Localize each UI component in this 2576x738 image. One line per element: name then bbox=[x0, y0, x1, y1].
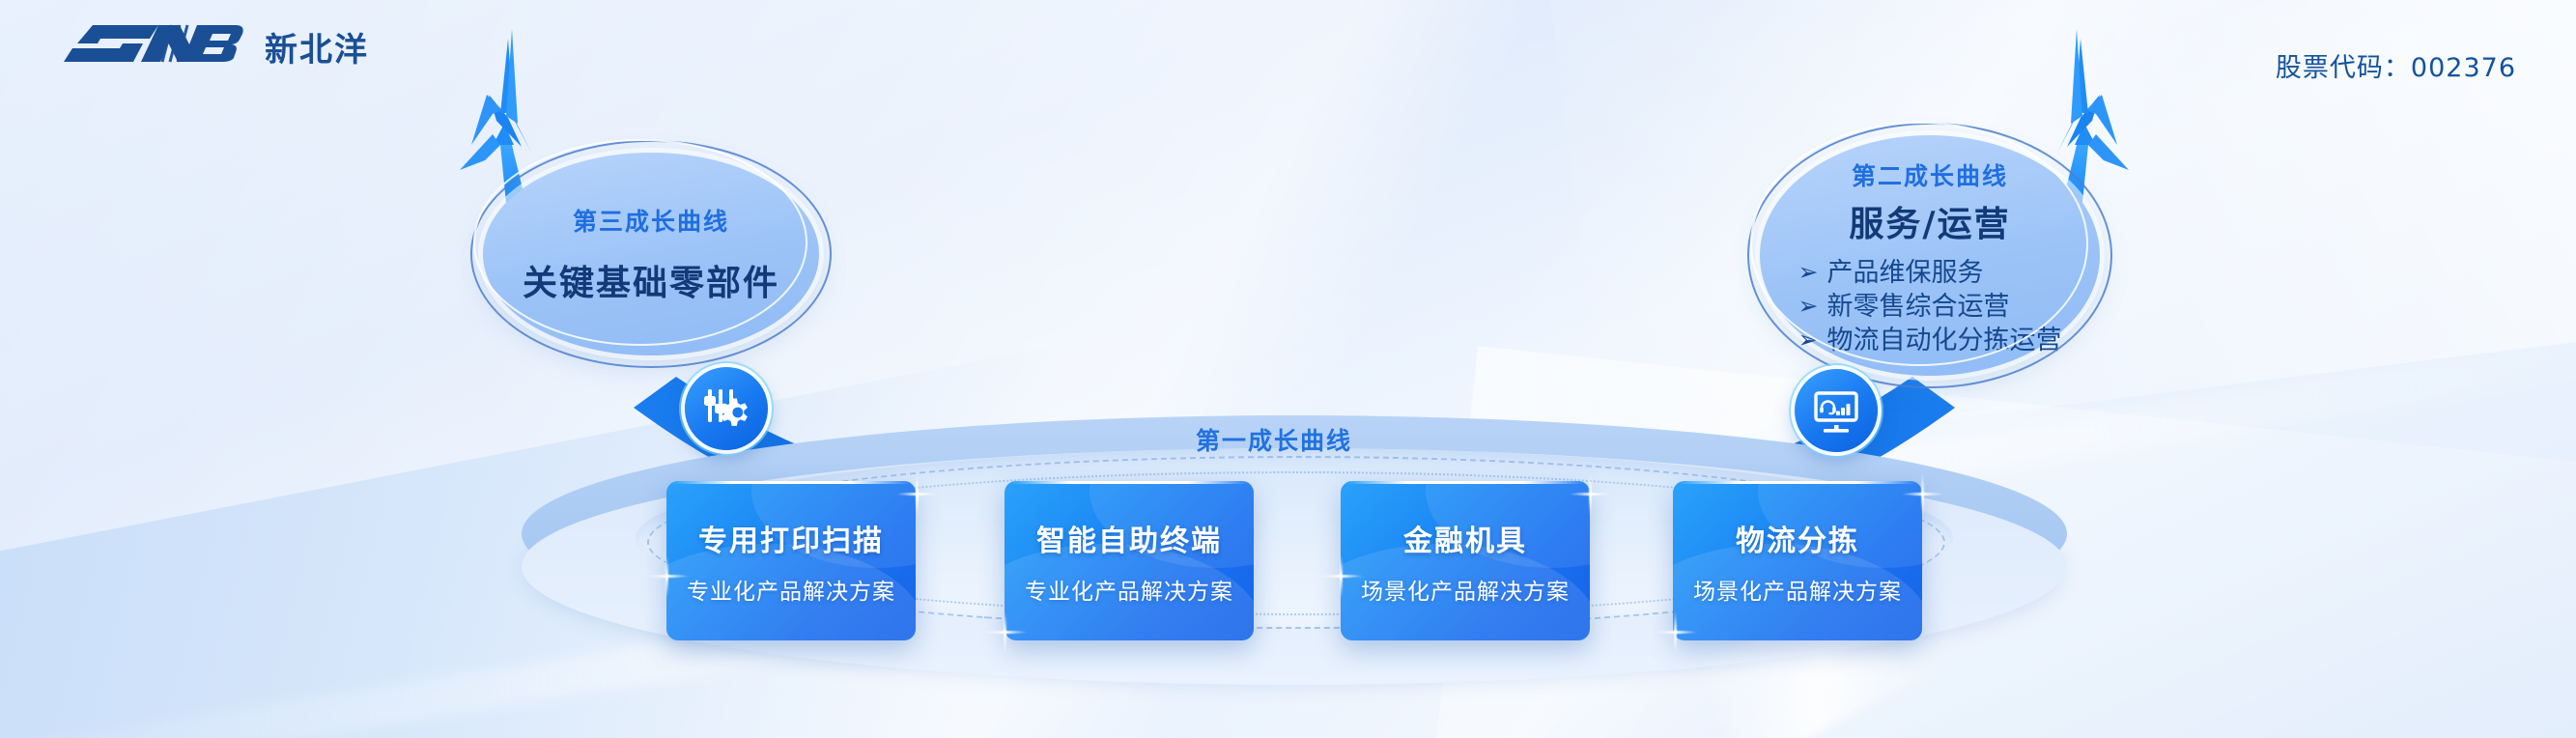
badge-service-operations[interactable] bbox=[1795, 369, 1878, 452]
brand-logo: 新北洋 bbox=[58, 17, 369, 75]
snbc-logo-icon bbox=[58, 17, 247, 75]
infographic-canvas: 新北洋 股票代码：002376 bbox=[0, 0, 2576, 738]
card-title: 专用打印扫描 bbox=[698, 517, 884, 559]
card-subtitle: 场景化产品解决方案 bbox=[1693, 573, 1902, 606]
bubble-highlight-ring bbox=[473, 139, 807, 346]
badge-key-components[interactable] bbox=[685, 367, 768, 450]
sliders-gear-icon bbox=[702, 384, 750, 433]
product-card[interactable]: 专用打印扫描 专业化产品解决方案 bbox=[666, 481, 916, 640]
bubble-highlight-ring bbox=[1750, 122, 2088, 366]
card-subtitle: 专业化产品解决方案 bbox=[687, 573, 895, 606]
card-subtitle: 场景化产品解决方案 bbox=[1361, 573, 1570, 606]
product-card[interactable]: 智能自助终端 专业化产品解决方案 bbox=[1005, 481, 1254, 640]
product-card[interactable]: 物流分拣 场景化产品解决方案 bbox=[1673, 481, 1922, 640]
monitor-headset-chart-icon bbox=[1811, 385, 1861, 436]
product-card[interactable]: 金融机具 场景化产品解决方案 bbox=[1341, 481, 1590, 640]
card-title: 物流分拣 bbox=[1736, 517, 1859, 559]
card-title: 金融机具 bbox=[1403, 517, 1527, 559]
bubble-second-growth-curve[interactable]: 第二成长曲线 服务/运营 ➢ 产品维保服务 ➢ 新零售综合运营 ➢ 物流自动化分… bbox=[1760, 135, 2100, 376]
bubble-third-growth-curve[interactable]: 第三成长曲线 关键基础零部件 bbox=[483, 153, 819, 355]
first-curve-label: 第一成长曲线 bbox=[1196, 422, 1352, 457]
stock-code: 股票代码：002376 bbox=[2276, 46, 2516, 84]
logo-chinese-name: 新北洋 bbox=[265, 23, 369, 71]
card-subtitle: 专业化产品解决方案 bbox=[1025, 573, 1233, 606]
card-title: 智能自助终端 bbox=[1036, 517, 1222, 559]
